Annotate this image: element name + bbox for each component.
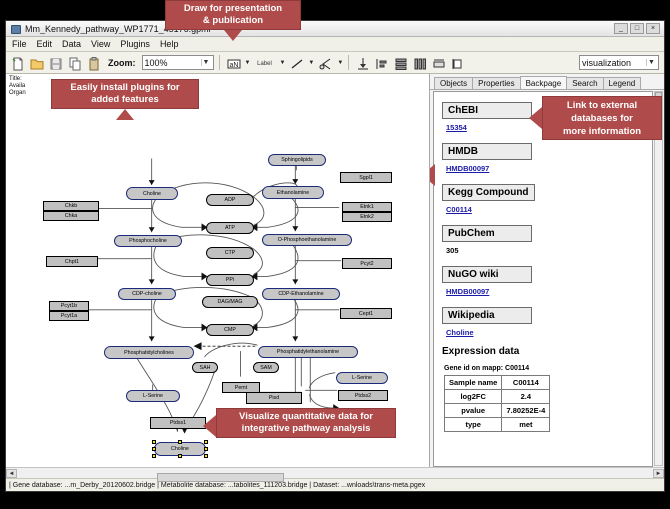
expression-key: Sample name bbox=[445, 376, 502, 390]
metabolite-node-phosphocholine[interactable]: Phosphocholine bbox=[114, 235, 182, 247]
datanode-dropdown-caret-icon[interactable]: ▼ bbox=[245, 60, 251, 66]
node-label: CTP bbox=[225, 250, 236, 256]
visualization-combobox[interactable]: visualization ▼ bbox=[579, 55, 659, 70]
backpage-heading-chebi: ChEBI bbox=[442, 102, 532, 119]
gene-id-line: Gene id on mapp: C00114 bbox=[444, 365, 652, 372]
node-label: DAG/MAG bbox=[217, 299, 242, 305]
gene-node-chpt1[interactable]: Chpt1 bbox=[46, 256, 98, 267]
selection-handle[interactable] bbox=[204, 440, 208, 444]
scroll-right-button[interactable]: ► bbox=[653, 469, 664, 478]
label-dropdown-caret-icon[interactable]: ▼ bbox=[279, 60, 285, 66]
status-bar: | Gene database: ...m_Derby_20120602.bri… bbox=[6, 478, 664, 492]
gene-node-pisd[interactable]: Pisd bbox=[246, 392, 302, 404]
callout-expression-arrow-icon bbox=[430, 164, 435, 186]
order-icon[interactable] bbox=[449, 55, 465, 71]
chevron-down-icon-2[interactable]: ▼ bbox=[646, 59, 656, 66]
align-bottom-icon[interactable] bbox=[354, 55, 370, 71]
callout-link-line3: more information bbox=[563, 125, 641, 138]
main-split: Title: Availa Organ bbox=[6, 74, 664, 467]
reaction-node-atp[interactable]: ATP bbox=[206, 222, 254, 234]
selection-handle[interactable] bbox=[178, 440, 182, 444]
node-label: Etnk1 bbox=[360, 204, 374, 210]
paste-icon[interactable] bbox=[85, 55, 101, 71]
node-label: Etnk2 bbox=[360, 214, 374, 220]
horizontal-scrollbar[interactable]: ◄ ► bbox=[6, 467, 664, 478]
scroll-left-button[interactable]: ◄ bbox=[6, 469, 17, 478]
maximize-button[interactable]: □ bbox=[630, 23, 644, 34]
callout-plugins: Easily install plugins for added feature… bbox=[51, 79, 199, 109]
anchor-tool-icon[interactable] bbox=[317, 55, 333, 71]
backpage-heading-wikipedia: Wikipedia bbox=[442, 307, 532, 324]
callout-draw: Draw for presentation & publication bbox=[165, 0, 301, 30]
node-label: Choline bbox=[171, 446, 189, 452]
zoom-label: Zoom: bbox=[108, 58, 136, 68]
app-icon bbox=[10, 23, 21, 34]
node-label: CMP bbox=[224, 327, 236, 333]
side-panel-tabs: ObjectsPropertiesBackpageSearchLegend bbox=[430, 74, 664, 90]
node-label: SAH bbox=[200, 365, 211, 371]
node-label: Ptdss1 bbox=[170, 420, 186, 426]
backpage-link-wikipedia[interactable]: Choline bbox=[446, 328, 652, 337]
expression-row: typemet bbox=[445, 418, 550, 432]
reaction-node-ctp[interactable]: CTP bbox=[206, 247, 254, 259]
reaction-node-adp[interactable]: ADP bbox=[206, 194, 254, 206]
datanode-tool-icon[interactable]: aN bbox=[225, 55, 241, 71]
metabolite-node-cdp-ethanolamine[interactable]: CDP-Ethanolamine bbox=[262, 288, 340, 300]
menu-item-view[interactable]: View bbox=[90, 39, 111, 49]
selection-handle[interactable] bbox=[178, 454, 182, 458]
node-label: Pemt bbox=[235, 385, 247, 391]
pathway-canvas-pane[interactable]: Title: Availa Organ bbox=[6, 74, 430, 467]
node-label: L-Serine bbox=[352, 375, 372, 381]
metabolite-node-ethanolamine[interactable]: Ethanolamine bbox=[262, 186, 324, 199]
expression-row: Sample nameC00114 bbox=[445, 376, 550, 390]
copy-icon[interactable] bbox=[66, 55, 82, 71]
metabolite-node-l-serine[interactable]: L-Serine bbox=[126, 390, 180, 402]
metabolite-node-phosphatidylethanolamine[interactable]: Phosphatidylethanolamine bbox=[258, 346, 358, 358]
tab-search[interactable]: Search bbox=[566, 77, 603, 89]
node-label: Cept1 bbox=[359, 311, 373, 317]
expression-value: 2.4 bbox=[502, 390, 550, 404]
node-label: Ethanolamine bbox=[277, 190, 309, 196]
backpage-link-kegg-compound[interactable]: C00114 bbox=[446, 205, 652, 214]
size-match-icon[interactable] bbox=[430, 55, 446, 71]
backpage-heading-hmdb: HMDB bbox=[442, 143, 532, 160]
gene-node-sgpl1[interactable]: Sgpl1 bbox=[340, 172, 392, 183]
horizontal-scrollbar-thumb[interactable] bbox=[157, 473, 284, 482]
menu-item-plugins[interactable]: Plugins bbox=[119, 39, 151, 49]
selection-handle[interactable] bbox=[152, 454, 156, 458]
node-label: CDP-choline bbox=[132, 291, 162, 297]
callout-visualize-arrow-icon bbox=[203, 415, 216, 437]
expression-row: pvalue7.80252E-4 bbox=[445, 404, 550, 418]
gene-node-cept1[interactable]: Cept1 bbox=[340, 308, 392, 319]
tab-properties[interactable]: Properties bbox=[472, 77, 520, 89]
zoom-combobox[interactable]: 100% ▼ bbox=[142, 55, 214, 70]
expression-table: Sample nameC00114log2FC2.4pvalue7.80252E… bbox=[444, 375, 550, 432]
backpage-value-pubchem: 305 bbox=[446, 246, 652, 255]
node-label: ATP bbox=[225, 225, 235, 231]
expression-value: C00114 bbox=[502, 376, 550, 390]
side-panel: ObjectsPropertiesBackpageSearchLegend Ch… bbox=[430, 74, 664, 467]
node-label: CDP-Ethanolamine bbox=[278, 291, 323, 297]
close-button[interactable]: × bbox=[646, 23, 660, 34]
node-label: Sgpl1 bbox=[359, 175, 373, 181]
callout-draw-line1: Draw for presentation bbox=[184, 3, 282, 15]
expression-key: pvalue bbox=[445, 404, 502, 418]
node-label: O-Phosphoethanolamine bbox=[278, 237, 337, 243]
selection-handle[interactable] bbox=[204, 454, 208, 458]
gene-node-etnk1[interactable]: Etnk1 bbox=[342, 202, 392, 212]
toolbar: Zoom: 100% ▼ aN ▼ Label ▼ ▼ ▼ bbox=[6, 52, 664, 74]
save-icon[interactable] bbox=[47, 55, 63, 71]
chevron-down-icon[interactable]: ▼ bbox=[201, 59, 211, 66]
metabolite-node-sphingolipids[interactable]: Sphingolipids bbox=[268, 154, 326, 166]
menu-item-file[interactable]: File bbox=[11, 39, 28, 49]
node-label: Sphingolipids bbox=[281, 157, 313, 163]
callout-plugins-arrow-icon bbox=[116, 109, 134, 120]
svg-text:aN: aN bbox=[229, 62, 238, 69]
node-label: PPi bbox=[226, 277, 234, 283]
selection-handle[interactable] bbox=[152, 440, 156, 444]
node-label: Ptdss2 bbox=[355, 393, 371, 399]
label-tool[interactable]: Label bbox=[253, 55, 275, 71]
expression-data-title: Expression data bbox=[442, 346, 652, 357]
node-label: Phosphocholine bbox=[129, 238, 167, 244]
reaction-node-cmp[interactable]: CMP bbox=[206, 324, 254, 336]
node-label: Phosphatidylcholines bbox=[124, 350, 174, 356]
distribute-vertical-icon[interactable] bbox=[392, 55, 408, 71]
gene-node-pcyt2[interactable]: Pcyt2 bbox=[342, 258, 392, 269]
gpml-editor-window: Mm_Kennedy_pathway_WP1771_45176.gpml _ □… bbox=[5, 20, 665, 492]
reaction-node-sah[interactable]: SAH bbox=[192, 362, 218, 373]
node-label: Pisd bbox=[269, 395, 279, 401]
node-label: Pcyt2 bbox=[360, 261, 373, 267]
node-label: ADP bbox=[225, 197, 236, 203]
node-label: Pcyt1b bbox=[61, 303, 77, 309]
expression-key: log2FC bbox=[445, 390, 502, 404]
selection-handle[interactable] bbox=[152, 447, 156, 451]
side-panel-scrollbar[interactable] bbox=[654, 91, 663, 466]
callout-visualize-line2: integrative pathway analysis bbox=[242, 423, 371, 435]
node-label: Phosphatidylethanolamine bbox=[277, 349, 339, 355]
callout-link-arrow-icon bbox=[529, 107, 542, 129]
menu-item-help[interactable]: Help bbox=[159, 39, 180, 49]
minimize-button[interactable]: _ bbox=[614, 23, 628, 34]
line-tool-icon[interactable] bbox=[288, 55, 304, 71]
distribute-horizontal-icon[interactable] bbox=[411, 55, 427, 71]
node-label: Chkb bbox=[65, 203, 77, 209]
callout-draw-line2: & publication bbox=[203, 15, 263, 27]
expression-key: type bbox=[445, 418, 502, 432]
callout-plugins-line1: Easily install plugins for bbox=[70, 82, 179, 94]
expression-value: 7.80252E-4 bbox=[502, 404, 550, 418]
gene-node-chkb[interactable]: Chkb bbox=[43, 201, 99, 211]
line-dropdown-caret-icon[interactable]: ▼ bbox=[308, 60, 314, 66]
menu-bar: File Edit Data View Plugins Help bbox=[6, 37, 664, 52]
callout-link-line2: databases for bbox=[571, 112, 633, 125]
anchor-dropdown-caret-icon[interactable]: ▼ bbox=[337, 60, 343, 66]
node-label: L-Serine bbox=[143, 393, 163, 399]
tab-objects[interactable]: Objects bbox=[434, 77, 473, 89]
tab-legend[interactable]: Legend bbox=[603, 77, 642, 89]
gene-node-ptdss1[interactable]: Ptdss1 bbox=[150, 417, 206, 429]
metabolite-node-o-phosphoethanolamine[interactable]: O-Phosphoethanolamine bbox=[262, 234, 352, 246]
gene-node-ptdss2[interactable]: Ptdss2 bbox=[338, 390, 388, 401]
gene-node-pcyt1b[interactable]: Pcyt1b bbox=[49, 301, 89, 311]
new-file-icon[interactable] bbox=[9, 55, 25, 71]
reaction-node-sam[interactable]: SAM bbox=[253, 362, 279, 373]
gene-node-pcyt1a[interactable]: Pcyt1a bbox=[49, 311, 89, 321]
pathway-canvas[interactable]: Title: Availa Organ bbox=[6, 74, 429, 467]
selection-handle[interactable] bbox=[204, 447, 208, 451]
backpage-link-hmdb[interactable]: HMDB00097 bbox=[446, 164, 652, 173]
node-label: Chpt1 bbox=[65, 259, 79, 265]
callout-draw-arrow-icon bbox=[224, 30, 242, 41]
tab-backpage[interactable]: Backpage bbox=[520, 76, 568, 89]
node-label: Choline bbox=[143, 191, 161, 197]
callout-visualize: Visualize quantitative data for integrat… bbox=[216, 408, 396, 438]
menu-item-data[interactable]: Data bbox=[61, 39, 82, 49]
backpage-heading-kegg-compound: Kegg Compound bbox=[442, 184, 535, 201]
expression-value: met bbox=[502, 418, 550, 432]
metabolite-node-l-serine[interactable]: L-Serine bbox=[336, 372, 388, 384]
metabolite-node-choline[interactable]: Choline bbox=[126, 187, 178, 200]
node-label: Chka bbox=[65, 213, 77, 219]
status-bar-text: | Gene database: ...m_Derby_20120602.bri… bbox=[9, 482, 425, 489]
zoom-value: 100% bbox=[145, 58, 168, 68]
callout-link-line1: Link to external bbox=[567, 99, 637, 112]
callout-plugins-line2: added features bbox=[91, 94, 159, 106]
callout-visualize-line1: Visualize quantitative data for bbox=[239, 411, 373, 423]
backpage-heading-pubchem: PubChem bbox=[442, 225, 532, 242]
expression-row: log2FC2.4 bbox=[445, 390, 550, 404]
backpage-link-nugo-wiki[interactable]: HMDB00097 bbox=[446, 287, 652, 296]
reaction-node-dag-mag[interactable]: DAG/MAG bbox=[202, 296, 258, 308]
window-title-bar: Mm_Kennedy_pathway_WP1771_45176.gpml _ □… bbox=[6, 21, 664, 37]
toolbar-separator-2 bbox=[348, 55, 349, 70]
callout-link-databases: Link to external databases for more info… bbox=[542, 96, 662, 140]
gene-node-chka[interactable]: Chka bbox=[43, 211, 99, 221]
node-label: SAM bbox=[260, 365, 271, 371]
window-controls: _ □ × bbox=[614, 23, 660, 34]
node-label: Pcyt1a bbox=[61, 313, 77, 319]
gene-node-etnk2[interactable]: Etnk2 bbox=[342, 212, 392, 222]
visualization-value: visualization bbox=[582, 58, 631, 68]
toolbar-separator bbox=[219, 55, 220, 70]
metabolite-node-phosphatidylcholines[interactable]: Phosphatidylcholines bbox=[104, 346, 194, 359]
reaction-node-ppi[interactable]: PPi bbox=[206, 274, 254, 286]
align-left-icon[interactable] bbox=[373, 55, 389, 71]
backpage-content[interactable]: ChEBI15354HMDBHMDB00097Kegg CompoundC001… bbox=[433, 91, 653, 467]
menu-item-edit[interactable]: Edit bbox=[36, 39, 54, 49]
backpage-heading-nugo-wiki: NuGO wiki bbox=[442, 266, 532, 283]
metabolite-node-cdp-choline[interactable]: CDP-choline bbox=[118, 288, 176, 300]
open-folder-icon[interactable] bbox=[28, 55, 44, 71]
